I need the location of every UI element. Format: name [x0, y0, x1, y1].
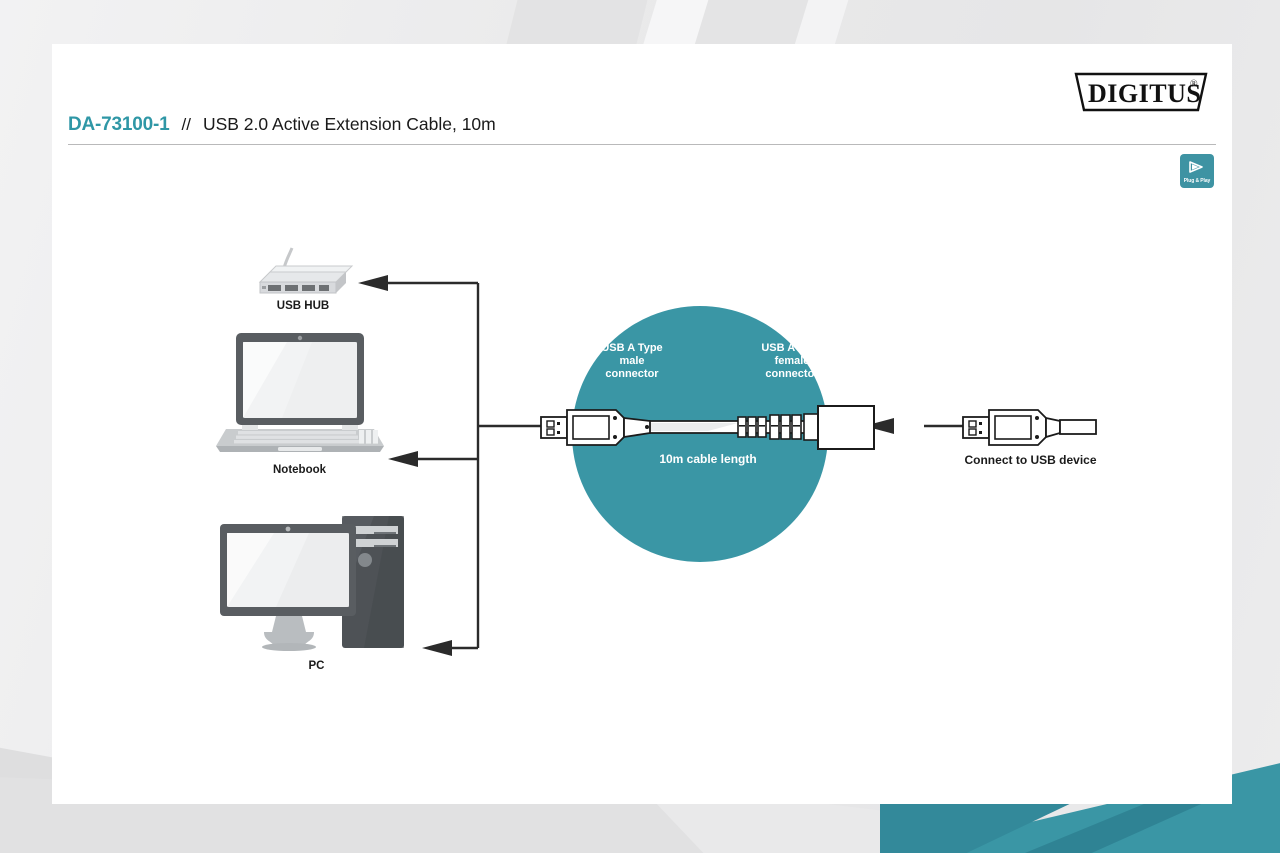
- label-connect-to-usb-device: Connect to USB device: [938, 453, 1123, 467]
- device-label-pc: PC: [214, 660, 419, 672]
- content-card: DIGITUS ® DA-73100-1 // USB 2.0 Active E…: [52, 44, 1232, 804]
- product-sheet-page: DIGITUS ® DA-73100-1 // USB 2.0 Active E…: [0, 0, 1280, 853]
- device-label-notebook: Notebook: [212, 464, 387, 476]
- desktop-pc-icon: [214, 510, 419, 655]
- usb-extension-cable-illustration: [538, 402, 878, 452]
- label-cable-length: 10m cable length: [608, 453, 808, 466]
- device-label-usb-hub: USB HUB: [248, 300, 358, 312]
- arrowhead-hub: [358, 275, 388, 291]
- usb-a-male-plug-icon: [960, 402, 1100, 452]
- usb-hub-icon: [248, 242, 358, 298]
- label-female-connector: USB A Type female connector: [728, 342, 856, 381]
- laptop-icon: [212, 329, 387, 459]
- label-male-connector: USB A Type male connector: [568, 342, 696, 381]
- arrowhead-notebook: [388, 451, 418, 467]
- arrowhead-pc: [422, 640, 452, 656]
- connection-diagram: USB HUB: [52, 44, 1232, 804]
